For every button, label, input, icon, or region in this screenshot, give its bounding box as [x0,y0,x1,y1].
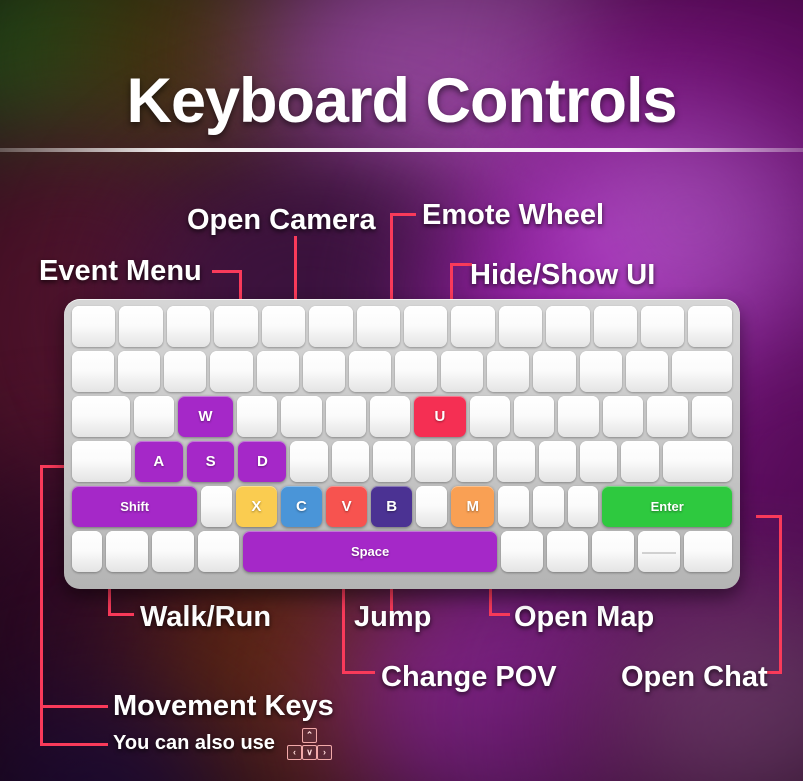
key-blank[interactable] [594,306,637,347]
key-blank[interactable] [647,396,687,437]
key-blank[interactable] [580,441,617,482]
key-blank[interactable] [72,396,130,437]
leader-movement-v [40,465,43,745]
arrow-right-icon: › [317,745,332,760]
keyboard-row-space-row: Space [72,531,732,572]
key-blank[interactable] [72,441,131,482]
key-blank[interactable] [692,396,732,437]
title-divider [0,148,803,152]
key-blank[interactable] [72,351,114,392]
keyboard-row-qwerty-row: WU [72,396,732,437]
key-w[interactable]: W [178,396,233,437]
leader-walk-run-h [108,613,134,616]
key-blank[interactable] [470,396,510,437]
key-u[interactable]: U [414,396,465,437]
key-blank[interactable] [487,351,529,392]
key-blank[interactable] [684,531,732,572]
key-blank[interactable] [441,351,483,392]
leader-movement-keys-h [40,705,108,708]
key-blank[interactable] [167,306,210,347]
arrow-down-icon: ∨ [302,745,317,760]
infographic-stage: Keyboard Controls Event Menu Open Camera… [0,0,803,781]
keyboard-row-shift-row: ShiftXCVBMEnter [72,486,732,527]
leader-open-chat-h2 [766,671,782,674]
key-space[interactable]: Space [243,531,496,572]
page-title: Keyboard Controls [0,70,803,133]
key-blank[interactable] [416,486,447,527]
key-blank[interactable] [514,396,554,437]
key-blank[interactable] [533,486,564,527]
leader-open-chat-v [779,515,782,673]
key-enter[interactable]: Enter [602,486,732,527]
key-blank[interactable] [533,351,575,392]
key-blank[interactable] [134,396,174,437]
arrow-up-icon: ⌃ [302,728,317,743]
callout-event-menu: Event Menu [39,257,202,286]
key-blank[interactable] [501,531,543,572]
key-blank[interactable] [119,306,162,347]
key-blank[interactable] [164,351,206,392]
key-blank[interactable] [395,351,437,392]
arrow-keys-icon: ⌃ ‹ ∨ › [287,728,333,762]
key-asd[interactable]: D [238,441,286,482]
key-blank[interactable] [373,441,410,482]
leader-event-menu-h [212,270,242,273]
key-blank[interactable] [498,486,529,527]
key-blank[interactable] [546,306,589,347]
key-blank[interactable] [539,441,576,482]
leader-open-map-h [489,613,510,616]
callout-movement-keys: Movement Keys [113,692,334,721]
key-blank[interactable] [281,396,321,437]
callout-open-chat: Open Chat [621,663,768,692]
key-blank[interactable] [290,441,327,482]
key-blank[interactable] [201,486,232,527]
callout-jump: Jump [354,603,431,632]
key-blank[interactable] [332,441,369,482]
key-c[interactable]: C [281,486,323,527]
key-blank[interactable] [210,351,252,392]
key-blank[interactable] [257,351,299,392]
key-x[interactable]: X [236,486,277,527]
key-blank[interactable] [641,306,684,347]
callout-open-map: Open Map [514,603,654,632]
key-blank[interactable] [262,306,305,347]
key-blank[interactable] [663,441,732,482]
leader-change-pov-h [342,671,375,674]
keyboard-row-home-row: ASD [72,441,732,482]
key-blank[interactable] [214,306,257,347]
key-blank[interactable] [309,306,352,347]
key-blank[interactable] [499,306,542,347]
key-blank[interactable] [237,396,277,437]
key-shift[interactable]: Shift [72,486,197,527]
key-blank[interactable] [118,351,160,392]
callout-also-use: You can also use [113,733,275,753]
key-blank[interactable] [547,531,589,572]
callout-hide-show-ui: Hide/Show UI [470,261,655,290]
title-band: Keyboard Controls [0,0,803,150]
key-blank[interactable] [357,306,400,347]
leader-hide-show-ui-h [450,263,472,266]
callout-change-pov: Change POV [381,663,557,692]
key-blank[interactable] [106,531,148,572]
arrow-left-icon: ‹ [287,745,302,760]
callout-walk-run: Walk/Run [140,603,271,632]
key-blank[interactable] [497,441,534,482]
key-blank[interactable] [580,351,622,392]
key-blank[interactable] [672,351,732,392]
key-blank[interactable] [603,396,643,437]
key-blank[interactable] [558,396,598,437]
key-blank[interactable] [72,306,115,347]
key-b[interactable]: B [371,486,413,527]
key-blank[interactable] [621,441,658,482]
key-blank[interactable] [456,441,493,482]
key-blank[interactable] [404,306,447,347]
key-blank[interactable] [370,396,410,437]
key-blank[interactable] [638,531,680,572]
keyboard: WUASDShiftXCVBMEnterSpace [64,299,740,589]
key-asd[interactable]: A [135,441,183,482]
key-asd[interactable]: S [187,441,234,482]
leader-emote-wheel-h [390,213,416,216]
key-blank[interactable] [592,531,634,572]
key-blank[interactable] [415,441,452,482]
key-blank[interactable] [626,351,668,392]
key-blank[interactable] [349,351,391,392]
leader-also-use-h [40,743,108,746]
callout-emote-wheel: Emote Wheel [422,201,604,230]
keyboard-row-function-row [72,306,732,347]
key-blank[interactable] [451,306,494,347]
key-blank[interactable] [72,531,102,572]
key-blank[interactable] [688,306,731,347]
keyboard-row-number-row [72,351,732,392]
key-blank[interactable] [568,486,599,527]
key-v[interactable]: V [326,486,367,527]
key-blank[interactable] [326,396,366,437]
key-m[interactable]: M [451,486,494,527]
key-blank[interactable] [152,531,194,572]
callout-open-camera: Open Camera [187,206,376,235]
key-blank[interactable] [303,351,345,392]
key-blank[interactable] [198,531,240,572]
